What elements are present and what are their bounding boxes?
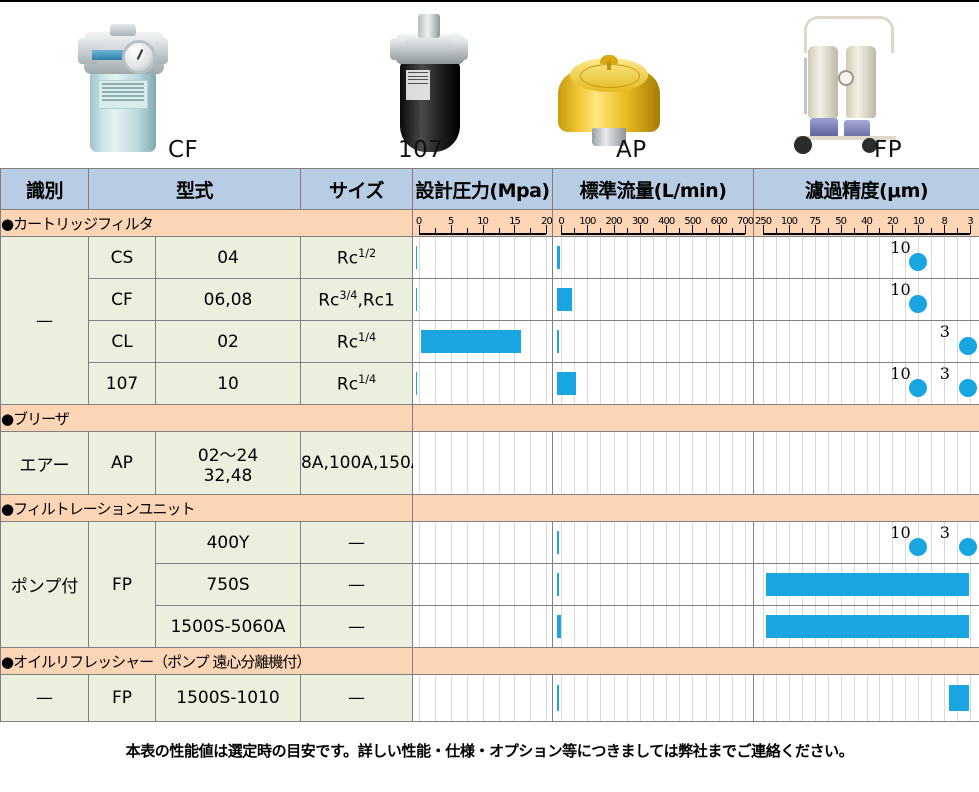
grid-line: [666, 675, 667, 721]
plot-cell-micron: 103: [754, 522, 979, 564]
group-header-row: ●カートリッジフィルタ05101520010020030040050060070…: [1, 210, 979, 237]
code-line: 02〜24: [156, 441, 300, 466]
grid-line: [546, 363, 547, 404]
plot-cell-flow: [553, 522, 754, 564]
grid-line: [692, 279, 693, 320]
grid-line: [419, 432, 420, 494]
axis-tick-label: 250: [755, 216, 771, 227]
grid-line: [745, 237, 746, 278]
grid-line: [451, 279, 452, 320]
plot-cell-micron: 3: [754, 321, 979, 363]
code-cell: 06,08: [156, 279, 301, 321]
size-cell: —: [301, 564, 413, 606]
model-cell: CF: [89, 279, 156, 321]
grid-line: [514, 564, 515, 605]
spin-on-filter-icon: [390, 12, 470, 152]
size-cell: —: [301, 522, 413, 564]
grid-line: [763, 363, 764, 404]
spec-sheet-page: CF 107 AP: [0, 0, 979, 792]
grid-line: [944, 432, 945, 494]
plot-cell-pressure: [413, 237, 553, 279]
axis-tick-label: 400: [658, 216, 674, 227]
axis-scale-flow: 0100200300400500600700: [553, 210, 753, 236]
grid-line: [483, 363, 484, 404]
grid-line: [419, 606, 420, 647]
plot-cell-micron: 103: [754, 363, 979, 405]
grid-line: [944, 279, 945, 320]
axis-tick-label: 40: [861, 216, 872, 227]
column-header-1: 型式: [89, 169, 301, 210]
axis-tick-label: 75: [809, 216, 820, 227]
grid-line: [815, 321, 816, 362]
group-title-filler: [413, 495, 979, 522]
grid-line: [640, 363, 641, 404]
specification-table: 識別型式サイズ設計圧力(Mpa)標準流量(L/min)濾過精度(μm)●カートリ…: [0, 168, 979, 722]
grid-line: [514, 606, 515, 647]
grid-line: [587, 432, 588, 494]
table-row: —CS04Rc1/210: [1, 237, 979, 279]
grid-line: [918, 432, 919, 494]
value-dot-label: 10: [890, 238, 910, 257]
grid-line: [483, 522, 484, 563]
plot-cell-flow: [553, 279, 754, 321]
value-dot: [909, 379, 927, 397]
grid-line: [587, 279, 588, 320]
grid-line: [614, 606, 615, 647]
table-row: —FP1500S-1010—: [1, 675, 979, 722]
grid-line: [640, 564, 641, 605]
size-cell: —: [301, 606, 413, 648]
grid-line: [763, 606, 764, 647]
model-cell: 107: [89, 363, 156, 405]
grid-line: [841, 363, 842, 404]
grid-line: [745, 675, 746, 721]
grid-line: [640, 675, 641, 721]
grid-line: [666, 321, 667, 362]
plot-cell-micron: [754, 606, 979, 648]
grid-line: [561, 432, 562, 494]
plot-cell-flow: [553, 321, 754, 363]
axis-tick-label: 20: [541, 216, 552, 227]
group-title-filler: [413, 405, 979, 432]
axis-tick-label: 5: [448, 216, 453, 227]
grid-line: [614, 675, 615, 721]
axis-tick-label: 10: [913, 216, 924, 227]
grid-line: [587, 237, 588, 278]
grid-line: [419, 321, 420, 362]
product-label-ap: AP: [616, 137, 647, 163]
grid-line: [815, 432, 816, 494]
grid-line: [561, 564, 562, 605]
grid-line: [892, 321, 893, 362]
filtration-unit-icon: [786, 14, 906, 154]
product-label-cf: CF: [168, 137, 198, 163]
grid-line: [918, 675, 919, 721]
grid-line: [692, 321, 693, 362]
ident-cell: エアー: [1, 432, 89, 495]
grid-line: [666, 432, 667, 494]
code-cell: 750S: [156, 564, 301, 606]
code-cell: 400Y: [156, 522, 301, 564]
grid-line: [483, 279, 484, 320]
value-dot-label: 10: [890, 280, 910, 299]
grid-line: [763, 237, 764, 278]
spec-table-body: 識別型式サイズ設計圧力(Mpa)標準流量(L/min)濾過精度(μm)●カートリ…: [1, 169, 979, 722]
model-cell: CS: [89, 237, 156, 279]
grid-line: [666, 237, 667, 278]
value-bar: [557, 372, 576, 395]
column-header-5: 濾過精度(μm): [754, 169, 979, 210]
grid-line: [451, 564, 452, 605]
grid-line: [789, 279, 790, 320]
value-dot: [959, 379, 977, 397]
grid-line: [970, 606, 971, 647]
value-bar: [416, 288, 417, 311]
table-header-row: 識別型式サイズ設計圧力(Mpa)標準流量(L/min)濾過精度(μm): [1, 169, 979, 210]
grid-line: [719, 321, 720, 362]
grid-line: [614, 564, 615, 605]
grid-line: [719, 432, 720, 494]
grid-line: [745, 321, 746, 362]
plot-cell-micron: [754, 675, 979, 722]
group-header-row: ●フィルトレーションユニット: [1, 495, 979, 522]
grid-line: [970, 279, 971, 320]
size-cell: Rc3/4,Rc1: [301, 279, 413, 321]
grid-line: [514, 675, 515, 721]
ident-cell: ポンプ付: [1, 522, 89, 648]
grid-line: [614, 522, 615, 563]
grid-line: [483, 432, 484, 494]
plot-cell-flow: [553, 675, 754, 722]
value-bar: [421, 330, 521, 353]
code-cell: 02〜2432,48: [156, 432, 301, 495]
product-label-107: 107: [398, 137, 443, 163]
value-dot: [909, 538, 927, 556]
value-bar: [557, 330, 559, 353]
grid-line: [970, 675, 971, 721]
grid-line: [892, 675, 893, 721]
grid-line: [587, 606, 588, 647]
grid-line: [692, 432, 693, 494]
column-header-0: 識別: [1, 169, 89, 210]
grid-line: [666, 564, 667, 605]
grid-line: [640, 606, 641, 647]
group-title: ●オイルリフレッシャー（ポンプ 遠心分離機付）: [1, 648, 413, 675]
table-row: エアーAP02〜2432,488A,100A,150A: [1, 432, 979, 495]
value-dot: [959, 538, 977, 556]
grid-line: [692, 606, 693, 647]
grid-line: [561, 675, 562, 721]
grid-line: [514, 363, 515, 404]
grid-line: [867, 522, 868, 563]
plot-cell-micron: 10: [754, 279, 979, 321]
value-bar: [557, 531, 559, 554]
grid-line: [841, 522, 842, 563]
grid-line: [614, 279, 615, 320]
axis-tick-label: 20: [887, 216, 898, 227]
grid-line: [867, 237, 868, 278]
value-dot: [909, 253, 927, 271]
grid-line: [514, 522, 515, 563]
plot-cell-flow: [553, 564, 754, 606]
grid-line: [451, 675, 452, 721]
grid-line: [719, 522, 720, 563]
grid-line: [841, 279, 842, 320]
grid-line: [867, 675, 868, 721]
grid-line: [640, 522, 641, 563]
value-bar: [416, 372, 417, 395]
grid-line: [970, 564, 971, 605]
grid-line: [419, 279, 420, 320]
grid-line: [483, 606, 484, 647]
grid-line: [561, 522, 562, 563]
value-dot-label: 3: [940, 523, 950, 542]
air-breather-icon: [554, 52, 664, 148]
axis-tick-label: 3: [967, 216, 972, 227]
value-dot-label: 3: [940, 322, 950, 341]
grid-line: [483, 675, 484, 721]
grid-line: [692, 522, 693, 563]
grid-line: [546, 522, 547, 563]
grid-line: [763, 279, 764, 320]
grid-line: [640, 432, 641, 494]
grid-line: [918, 321, 919, 362]
grid-line: [451, 432, 452, 494]
product-label-fp: FP: [874, 137, 902, 163]
product-photo-strip: CF 107 AP: [0, 0, 979, 168]
size-cell: Rc1/4: [301, 321, 413, 363]
grid-line: [546, 675, 547, 721]
size-cell: Rc1/4: [301, 363, 413, 405]
grid-line: [719, 675, 720, 721]
grid-line: [719, 564, 720, 605]
plot-cell-flow: [553, 432, 754, 495]
grid-line: [561, 321, 562, 362]
value-dot-label: 10: [890, 523, 910, 542]
grid-line: [546, 321, 547, 362]
plot-cell-pressure: [413, 321, 553, 363]
grid-line: [561, 237, 562, 278]
axis-tick-label: 10: [477, 216, 488, 227]
code-cell: 1500S-1010: [156, 675, 301, 722]
group-title: ●カートリッジフィルタ: [1, 210, 413, 237]
grid-line: [789, 522, 790, 563]
grid-line: [640, 237, 641, 278]
grid-line: [841, 321, 842, 362]
grid-line: [692, 564, 693, 605]
value-bar: [557, 685, 559, 711]
grid-line: [666, 363, 667, 404]
plot-cell-pressure: [413, 675, 553, 722]
plot-cell-pressure: [413, 363, 553, 405]
value-bar: [557, 246, 560, 269]
grid-line: [789, 363, 790, 404]
grid-line: [841, 237, 842, 278]
axis-scale-pressure: 05101520: [413, 210, 552, 236]
grid-line: [614, 321, 615, 362]
value-dot-label: 10: [890, 364, 910, 383]
grid-line: [745, 363, 746, 404]
grid-line: [546, 432, 547, 494]
axis-tick-label: 100: [781, 216, 797, 227]
plot-cell-flow: [553, 237, 754, 279]
grid-line: [719, 237, 720, 278]
model-cell: AP: [89, 432, 156, 495]
grid-line: [587, 522, 588, 563]
axis-tick-label: 600: [711, 216, 727, 227]
grid-line: [483, 564, 484, 605]
group-title-filler: [413, 648, 979, 675]
group-title: ●フィルトレーションユニット: [1, 495, 413, 522]
group-header-row: ●オイルリフレッシャー（ポンプ 遠心分離機付）: [1, 648, 979, 675]
grid-line: [451, 237, 452, 278]
grid-line: [763, 675, 764, 721]
group-title: ●ブリーザ: [1, 405, 413, 432]
scale-micron: 250100755040201083: [754, 210, 979, 237]
axis-tick-label: 15: [509, 216, 520, 227]
grid-line: [419, 363, 420, 404]
grid-line: [514, 237, 515, 278]
grid-line: [745, 279, 746, 320]
grid-line: [666, 522, 667, 563]
axis-tick-label: 300: [632, 216, 648, 227]
grid-line: [867, 279, 868, 320]
grid-line: [587, 564, 588, 605]
axis-tick-label: 8: [941, 216, 946, 227]
grid-line: [763, 432, 764, 494]
grid-line: [640, 321, 641, 362]
footer-note: 本表の性能値は選定時の目安です。詳しい性能・仕様・オプション等につきましては弊社…: [0, 740, 979, 761]
grid-line: [970, 432, 971, 494]
axis-tick-label: 0: [558, 216, 563, 227]
product-photo-ap: AP: [530, 2, 760, 170]
grid-line: [763, 522, 764, 563]
model-cell: FP: [89, 522, 156, 648]
grid-line: [815, 363, 816, 404]
grid-line: [692, 363, 693, 404]
grid-line: [514, 279, 515, 320]
grid-line: [614, 237, 615, 278]
grid-line: [692, 675, 693, 721]
value-bar: [766, 615, 969, 638]
value-dot: [959, 337, 977, 355]
group-header-row: ●ブリーザ: [1, 405, 979, 432]
grid-line: [719, 279, 720, 320]
product-photo-cf: CF: [0, 2, 290, 170]
grid-line: [815, 237, 816, 278]
grid-line: [745, 432, 746, 494]
plot-cell-flow: [553, 606, 754, 648]
grid-line: [815, 279, 816, 320]
grid-line: [692, 237, 693, 278]
table-row: ポンプ付FP400Y—103: [1, 522, 979, 564]
value-bar: [416, 246, 417, 269]
code-line: 32,48: [156, 466, 300, 486]
grid-line: [745, 564, 746, 605]
plot-cell-pressure: [413, 432, 553, 495]
column-header-2: サイズ: [301, 169, 413, 210]
plot-cell-micron: [754, 564, 979, 606]
grid-line: [719, 606, 720, 647]
grid-line: [451, 522, 452, 563]
value-bar: [557, 573, 559, 596]
column-header-4: 標準流量(L/min): [553, 169, 754, 210]
ident-cell: —: [1, 675, 89, 722]
grid-line: [546, 606, 547, 647]
plot-cell-pressure: [413, 279, 553, 321]
axis-tick-label: 500: [684, 216, 700, 227]
grid-line: [587, 321, 588, 362]
value-bar: [557, 288, 572, 311]
size-cell: 8A,100A,150A: [301, 432, 413, 495]
value-dot: [909, 295, 927, 313]
axis-tick-label: 700: [737, 216, 753, 227]
model-cell: FP: [89, 675, 156, 722]
plot-cell-pressure: [413, 522, 553, 564]
grid-line: [745, 522, 746, 563]
plot-cell-flow: [553, 363, 754, 405]
grid-line: [789, 432, 790, 494]
size-cell: Rc1/2: [301, 237, 413, 279]
axis-scale-micron: 250100755040201083: [754, 210, 979, 236]
grid-line: [546, 279, 547, 320]
grid-line: [483, 237, 484, 278]
grid-line: [614, 363, 615, 404]
grid-line: [514, 432, 515, 494]
grid-line: [970, 237, 971, 278]
grid-line: [419, 237, 420, 278]
grid-line: [815, 522, 816, 563]
grid-line: [867, 363, 868, 404]
grid-line: [451, 363, 452, 404]
column-header-3: 設計圧力(Mpa): [413, 169, 553, 210]
scale-flow: 0100200300400500600700: [553, 210, 754, 237]
grid-line: [745, 606, 746, 647]
axis-tick-label: 50: [835, 216, 846, 227]
grid-line: [815, 675, 816, 721]
value-bar: [557, 615, 561, 638]
grid-line: [419, 675, 420, 721]
code-cell: 10: [156, 363, 301, 405]
grid-line: [892, 432, 893, 494]
grid-line: [546, 237, 547, 278]
grid-line: [867, 432, 868, 494]
grid-line: [546, 564, 547, 605]
grid-line: [789, 675, 790, 721]
value-bar: [949, 685, 969, 711]
grid-line: [614, 432, 615, 494]
grid-line: [867, 321, 868, 362]
grid-line: [587, 675, 588, 721]
product-photo-107: 107: [290, 2, 530, 170]
plot-cell-micron: [754, 432, 979, 495]
grid-line: [419, 564, 420, 605]
grid-line: [451, 606, 452, 647]
grid-line: [841, 432, 842, 494]
axis-tick-label: 200: [606, 216, 622, 227]
axis-tick-label: 0: [416, 216, 421, 227]
grid-line: [719, 363, 720, 404]
grid-line: [419, 522, 420, 563]
grid-line: [640, 279, 641, 320]
table-row: CF06,08Rc3/4,Rc110: [1, 279, 979, 321]
size-cell: —: [301, 675, 413, 722]
table-row: CL02Rc1/43: [1, 321, 979, 363]
code-cell: 1500S-5060A: [156, 606, 301, 648]
grid-line: [666, 606, 667, 647]
ident-cell: —: [1, 237, 89, 405]
grid-line: [763, 321, 764, 362]
